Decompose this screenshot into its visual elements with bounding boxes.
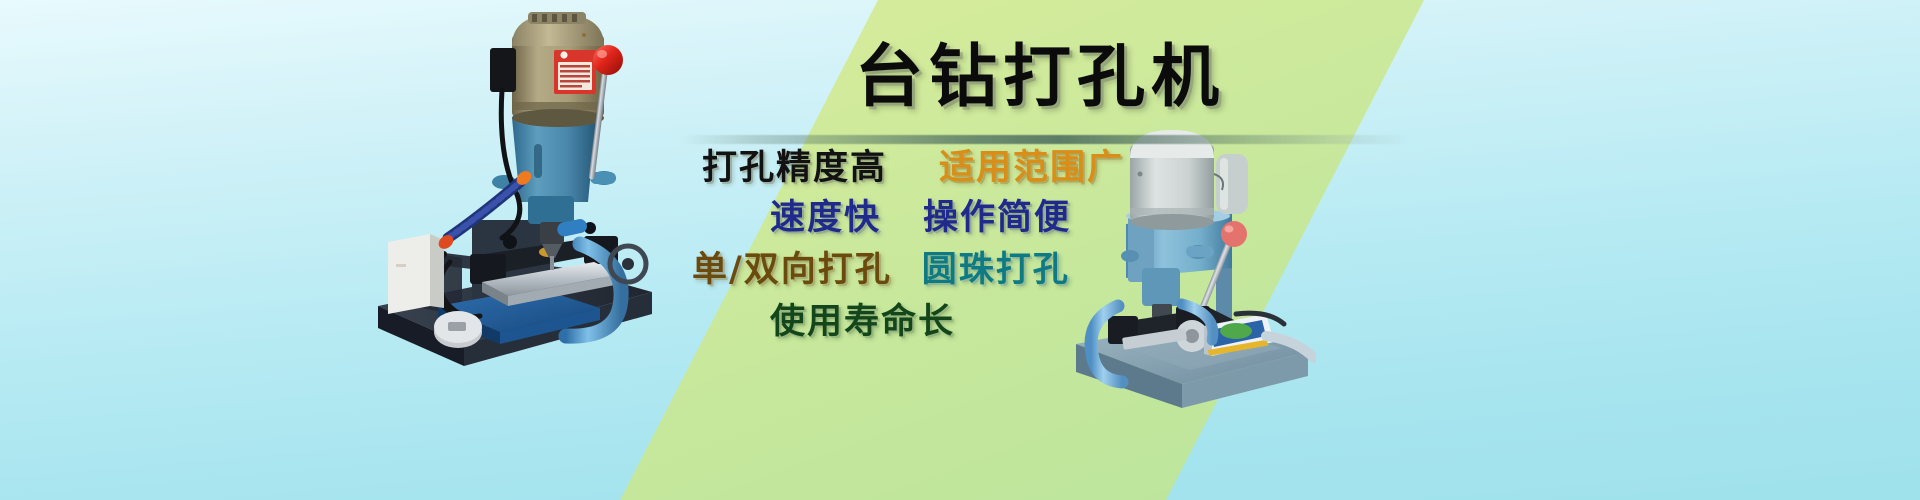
feature-single-double-drilling: 单/双向打孔 bbox=[692, 248, 892, 292]
motor bbox=[490, 12, 604, 127]
control-box bbox=[388, 234, 444, 314]
feature-precision: 打孔精度高 bbox=[702, 146, 887, 190]
feature-application-range: 适用范围广 bbox=[939, 146, 1124, 190]
drill-press-machine-left-photo bbox=[352, 6, 672, 378]
feature-fast-speed: 速度快 bbox=[770, 196, 881, 240]
feature-easy-operation: 操作简便 bbox=[923, 196, 1071, 240]
foot-pedal bbox=[434, 311, 482, 348]
page-title: 台钻打孔机 bbox=[640, 38, 1440, 116]
banner-text-block: 台钻打孔机 打孔精度高 适用范围广 速度快 操作简便 单/双向打孔 圆珠打孔 使… bbox=[640, 0, 1440, 500]
feature-row-2: 速度快 操作简便 bbox=[640, 196, 1440, 240]
feature-long-service-life: 使用寿命长 bbox=[770, 300, 955, 344]
feature-row-1: 打孔精度高 适用范围广 bbox=[640, 146, 1440, 190]
feature-row-3: 单/双向打孔 圆珠打孔 bbox=[640, 248, 1440, 292]
feature-row-4: 使用寿命长 bbox=[640, 300, 1440, 344]
feature-ball-drilling: 圆珠打孔 bbox=[922, 248, 1070, 292]
title-divider bbox=[680, 135, 1410, 144]
